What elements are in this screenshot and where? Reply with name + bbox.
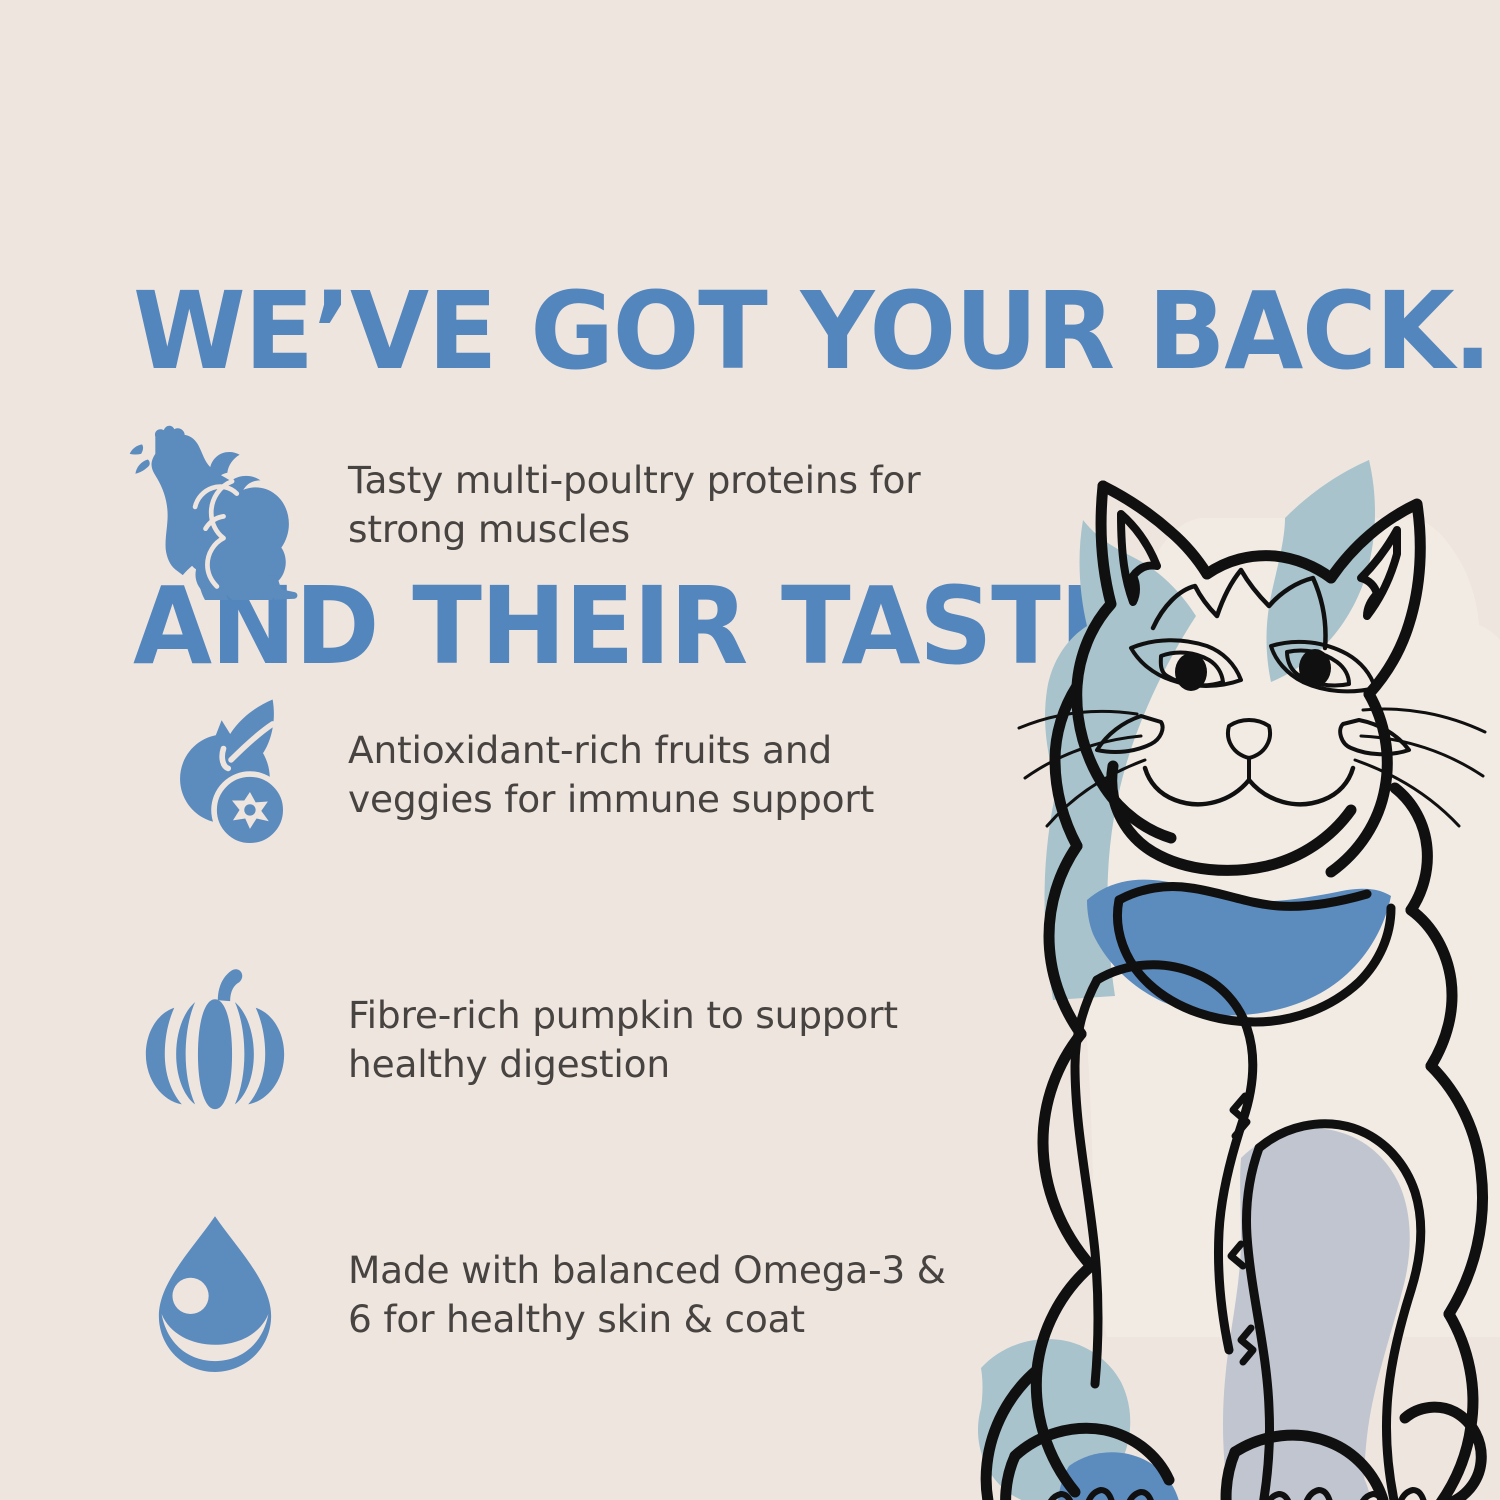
pumpkin-icon (120, 940, 310, 1140)
list-item: Made with balanced Omega-3 & 6 for healt… (0, 1190, 960, 1400)
feature-text: Made with balanced Omega-3 & 6 for healt… (348, 1246, 948, 1345)
list-item: Antioxidant-rich fruits and veggies for … (0, 670, 960, 880)
promo-panel: WE’VE GOT YOUR BACK. AND THEIR TASTEBUDS… (0, 0, 1500, 1500)
list-item: Fibre-rich pumpkin to support healthy di… (0, 935, 960, 1145)
sitting-cat-illustration (905, 448, 1500, 1500)
feature-text: Tasty multi-poultry proteins for strong … (348, 456, 948, 555)
list-item: Tasty multi-poultry proteins for strong … (0, 400, 960, 610)
feature-text: Antioxidant-rich fruits and veggies for … (348, 726, 948, 825)
oil-droplet-icon (120, 1195, 310, 1395)
feature-text: Fibre-rich pumpkin to support healthy di… (348, 991, 948, 1090)
headline-line-1: WE’VE GOT YOUR BACK. (133, 283, 1365, 381)
berries-icon (120, 675, 310, 875)
poultry-icon (120, 405, 310, 605)
